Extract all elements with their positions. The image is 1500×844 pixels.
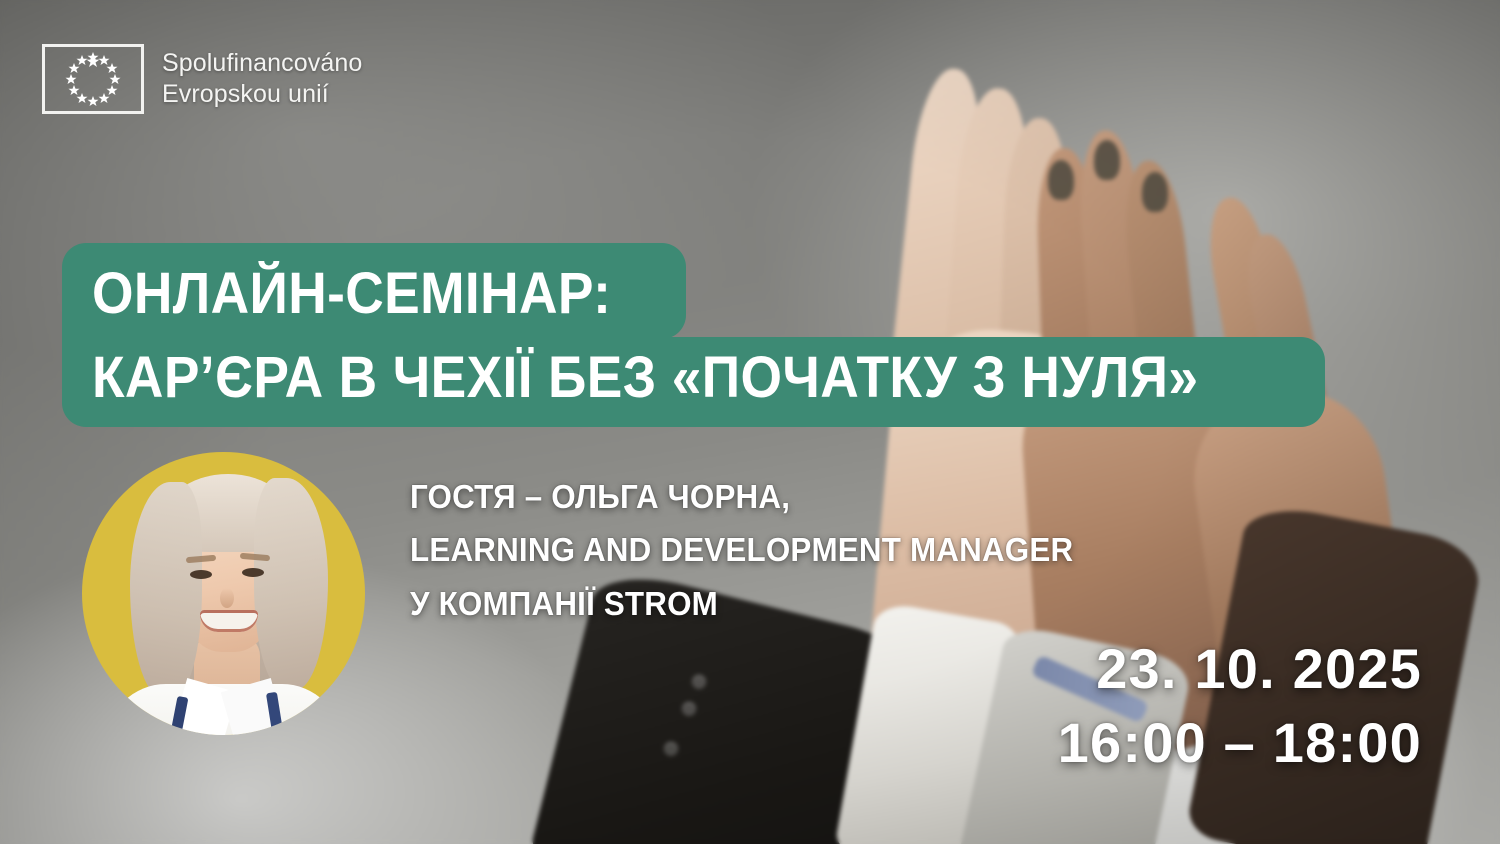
speaker-details: ГОСТЯ – ОЛЬГА ЧОРНА, LEARNING AND DEVELO…: [410, 470, 1108, 630]
speaker-line-3: У КОМПАНІЇ STROM: [410, 577, 1073, 630]
avatar: [82, 452, 365, 735]
title-banner: ОНЛАЙН-СЕМІНАР: КАР’ЄРА В ЧЕХІЇ БЕЗ «ПОЧ…: [62, 243, 1325, 427]
title-line-1: ОНЛАЙН-СЕМІНАР:: [62, 243, 686, 339]
title-line-1-text: ОНЛАЙН-СЕМІНАР:: [92, 265, 611, 323]
eu-funding-logo: Spolufinancováno Evropskou unií: [42, 44, 362, 114]
event-time: 16:00 – 18:00: [1058, 706, 1422, 780]
title-line-2-text: КАР’ЄРА В ЧЕХІЇ БЕЗ «ПОЧАТКУ З НУЛЯ»: [92, 349, 1198, 407]
event-date: 23. 10. 2025: [1058, 632, 1422, 706]
speaker-line-2: LEARNING AND DEVELOPMENT MANAGER: [410, 523, 1073, 576]
title-line-2: КАР’ЄРА В ЧЕХІЇ БЕЗ «ПОЧАТКУ З НУЛЯ»: [62, 337, 1325, 427]
eu-flag-icon: [42, 44, 144, 114]
event-datetime: 23. 10. 2025 16:00 – 18:00: [1058, 632, 1422, 780]
eu-funding-label: Spolufinancováno Evropskou unií: [162, 48, 362, 110]
promo-poster: Spolufinancováno Evropskou unií ОНЛАЙН-С…: [0, 0, 1500, 844]
speaker-line-1: ГОСТЯ – ОЛЬГА ЧОРНА,: [410, 470, 1073, 523]
